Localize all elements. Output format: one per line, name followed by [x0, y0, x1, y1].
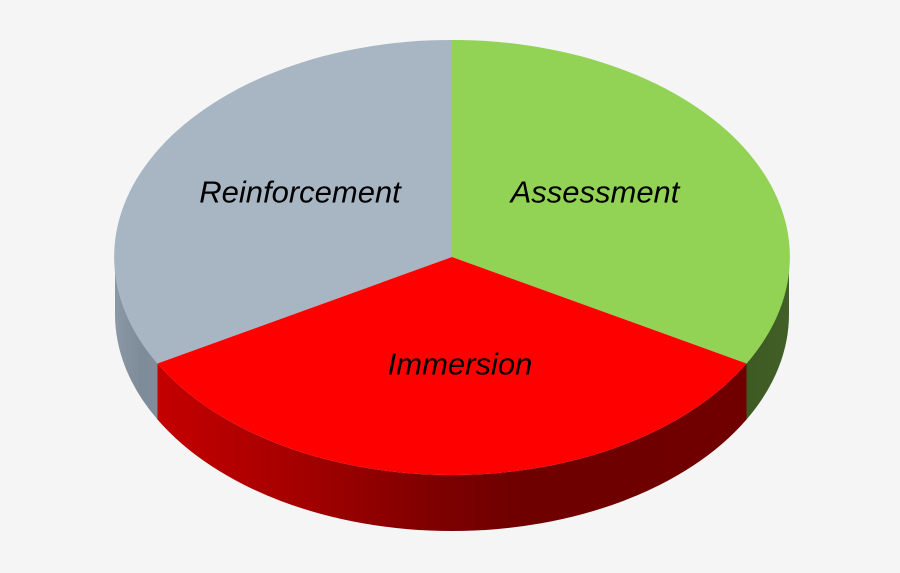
pie-slice-label-reinforcement: Reinforcement: [199, 177, 401, 208]
pie-slice-label-assessment: Assessment: [511, 177, 680, 208]
pie-chart-svg: [0, 0, 900, 573]
pie-chart-figure: Reinforcement Assessment Immersion: [0, 0, 900, 573]
pie-slice-label-immersion: Immersion: [388, 349, 533, 380]
